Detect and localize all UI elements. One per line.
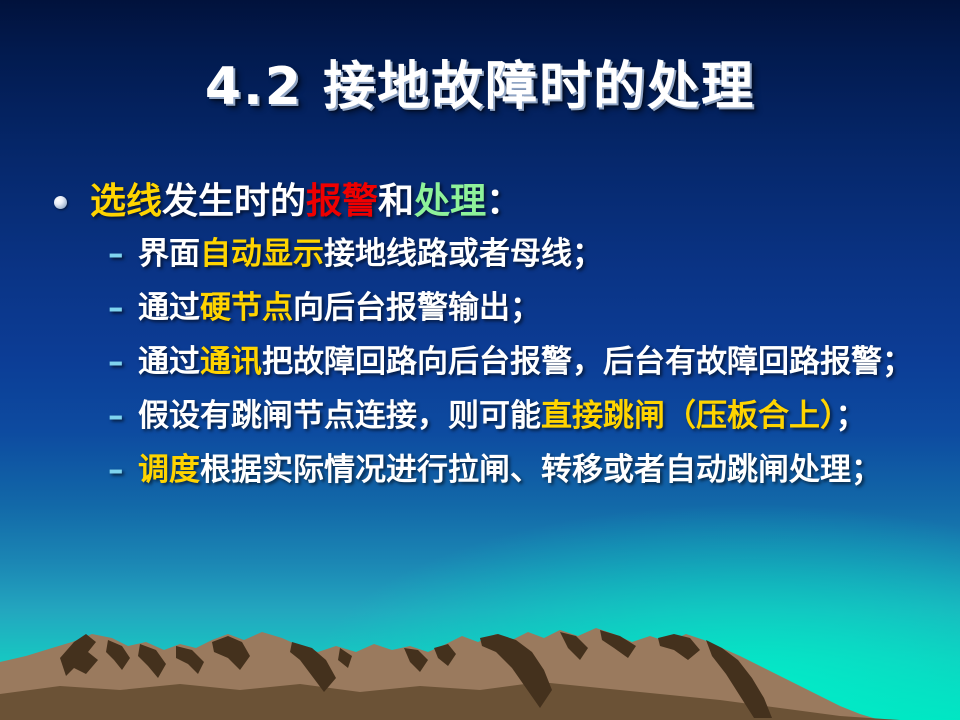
presentation-slide: 4.2 接地故障时的处理 选线发生时的报警和处理： – 界面自动显示接地线路或者… <box>0 0 960 720</box>
level2-bullet-list: – 界面自动显示接地线路或者母线； – 通过硬节点向后台报警输出； – 通过通讯… <box>44 232 924 492</box>
list-item: – 通过通讯把故障回路向后台报警，后台有故障回路报警； <box>108 340 924 384</box>
level1-bullet-item: 选线发生时的报警和处理： <box>44 178 924 226</box>
list-item-text: 界面自动显示接地线路或者母线； <box>138 236 603 272</box>
slide-body: 选线发生时的报警和处理： – 界面自动显示接地线路或者母线； – 通过硬节点向后… <box>44 178 924 502</box>
text-run-yellow: 自动显示 <box>200 236 324 272</box>
list-item: – 假设有跳闸节点连接，则可能直接跳闸（压板合上）； <box>108 394 924 438</box>
en-dash-bullet-icon: – <box>108 340 124 384</box>
level1-text: 选线发生时的报警和处理： <box>90 181 522 222</box>
en-dash-bullet-icon: – <box>108 448 124 492</box>
en-dash-bullet-icon: – <box>108 232 124 276</box>
text-run-yellow: 选线 <box>90 181 162 222</box>
text-run-white: 假设有跳闸节点连接，则可能 <box>138 398 541 434</box>
text-run-white: 界面 <box>138 236 200 272</box>
page-title: 4.2 接地故障时的处理 <box>0 44 960 119</box>
text-run-red: 报警 <box>306 181 378 222</box>
list-item-text: 通过硬节点向后台报警输出； <box>138 290 541 326</box>
en-dash-bullet-icon: – <box>108 286 124 330</box>
text-run-white: ： <box>486 181 522 222</box>
list-item: – 调度根据实际情况进行拉闸、转移或者自动跳闸处理； <box>108 448 924 492</box>
text-run-white: 和 <box>378 181 414 222</box>
text-run-yellow: 通讯 <box>200 344 262 380</box>
list-item: – 通过硬节点向后台报警输出； <box>108 286 924 330</box>
text-run-white: 接地线路或者母线； <box>324 236 603 272</box>
list-item-text: 调度根据实际情况进行拉闸、转移或者自动跳闸处理； <box>138 452 882 488</box>
mountain-range-graphic <box>0 590 960 720</box>
text-run-white: 通过 <box>138 344 200 380</box>
en-dash-bullet-icon: – <box>108 394 124 438</box>
list-item-text: 假设有跳闸节点连接，则可能直接跳闸（压板合上）； <box>138 398 867 434</box>
text-run-yellow: 调度 <box>138 452 200 488</box>
text-run-white: 通过 <box>138 290 200 326</box>
text-run-white: 把故障回路向后台报警，后台有故障回路报警； <box>262 344 913 380</box>
text-run-white: 根据实际情况进行拉闸、转移或者自动跳闸处理； <box>200 452 882 488</box>
sphere-bullet-icon <box>54 196 67 209</box>
list-item-text: 通过通讯把故障回路向后台报警，后台有故障回路报警； <box>138 344 913 380</box>
text-run-yellow: 直接跳闸（压板合上） <box>541 398 836 434</box>
text-run-white: 向后台报警输出； <box>293 290 541 326</box>
text-run-green: 处理 <box>414 181 486 222</box>
text-run-white: ； <box>836 398 867 434</box>
text-run-yellow: 硬节点 <box>200 290 293 326</box>
list-item: – 界面自动显示接地线路或者母线； <box>108 232 924 276</box>
text-run-white: 发生时的 <box>162 181 306 222</box>
